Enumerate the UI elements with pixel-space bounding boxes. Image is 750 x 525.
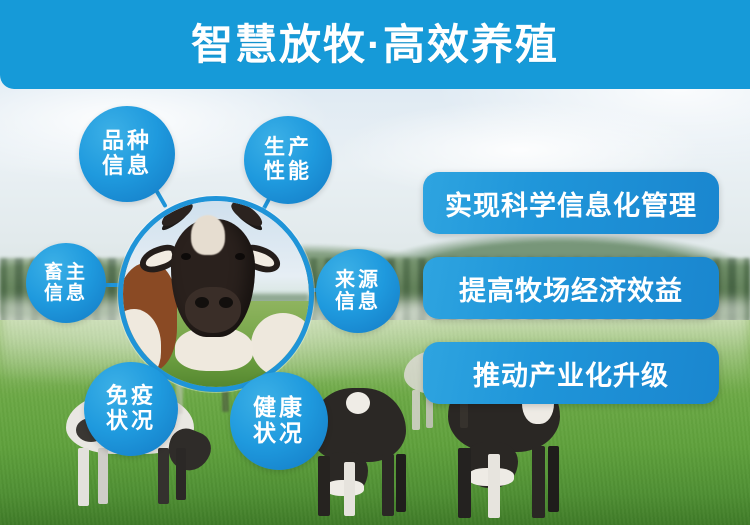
cow-eye-left <box>181 253 191 260</box>
badge-owner-info[interactable]: 畜主 信息 <box>26 243 106 323</box>
header-banner: 智慧放牧·高效养殖 <box>0 0 750 89</box>
badge-production-perf-line1: 生产 <box>264 136 312 160</box>
badge-health-status-line2: 状况 <box>253 421 305 447</box>
badge-health-status[interactable]: 健康 状况 <box>230 372 328 470</box>
badge-breed-info-line2: 信息 <box>102 154 152 179</box>
cow-nostril-left <box>195 297 209 308</box>
feature-pill-1[interactable]: 实现科学信息化管理 <box>423 172 719 234</box>
cow-forehead-blaze <box>191 215 225 255</box>
badge-owner-info-line2: 信息 <box>44 283 88 304</box>
badge-health-status-line1: 健康 <box>253 395 305 421</box>
page-title: 智慧放牧·高效养殖 <box>191 24 559 66</box>
badge-owner-info-line1: 畜主 <box>44 262 88 283</box>
badge-immunity-status-line1: 免疫 <box>106 384 156 409</box>
third-cow-white-body <box>251 313 309 377</box>
cow-muzzle <box>185 287 241 333</box>
badge-source-info[interactable]: 来源 信息 <box>316 249 400 333</box>
feature-pill-1-label: 实现科学信息化管理 <box>445 184 697 223</box>
cow-photo <box>123 201 309 387</box>
badge-source-info-line1: 来源 <box>335 269 381 291</box>
badge-breed-info-line1: 品种 <box>102 129 152 154</box>
feature-pill-2[interactable]: 提高牧场经济效益 <box>423 257 719 319</box>
badge-immunity-status-line2: 状况 <box>106 409 156 434</box>
badge-immunity-status[interactable]: 免疫 状况 <box>84 362 178 456</box>
cow-nostril-right <box>219 297 233 308</box>
badge-production-perf[interactable]: 生产 性能 <box>244 116 332 204</box>
badge-breed-info[interactable]: 品种 信息 <box>79 106 175 202</box>
cow-portrait-circle <box>118 196 314 392</box>
feature-pill-3-label: 推动产业化升级 <box>473 354 669 393</box>
poster-canvas: 智慧放牧·高效养殖 品种 信 <box>0 0 750 525</box>
badge-source-info-line2: 信息 <box>335 291 381 313</box>
feature-pill-2-label: 提高牧场经济效益 <box>459 269 683 308</box>
feature-pill-3[interactable]: 推动产业化升级 <box>423 342 719 404</box>
badge-production-perf-line2: 性能 <box>264 160 312 184</box>
cow-eye-right <box>235 253 245 260</box>
